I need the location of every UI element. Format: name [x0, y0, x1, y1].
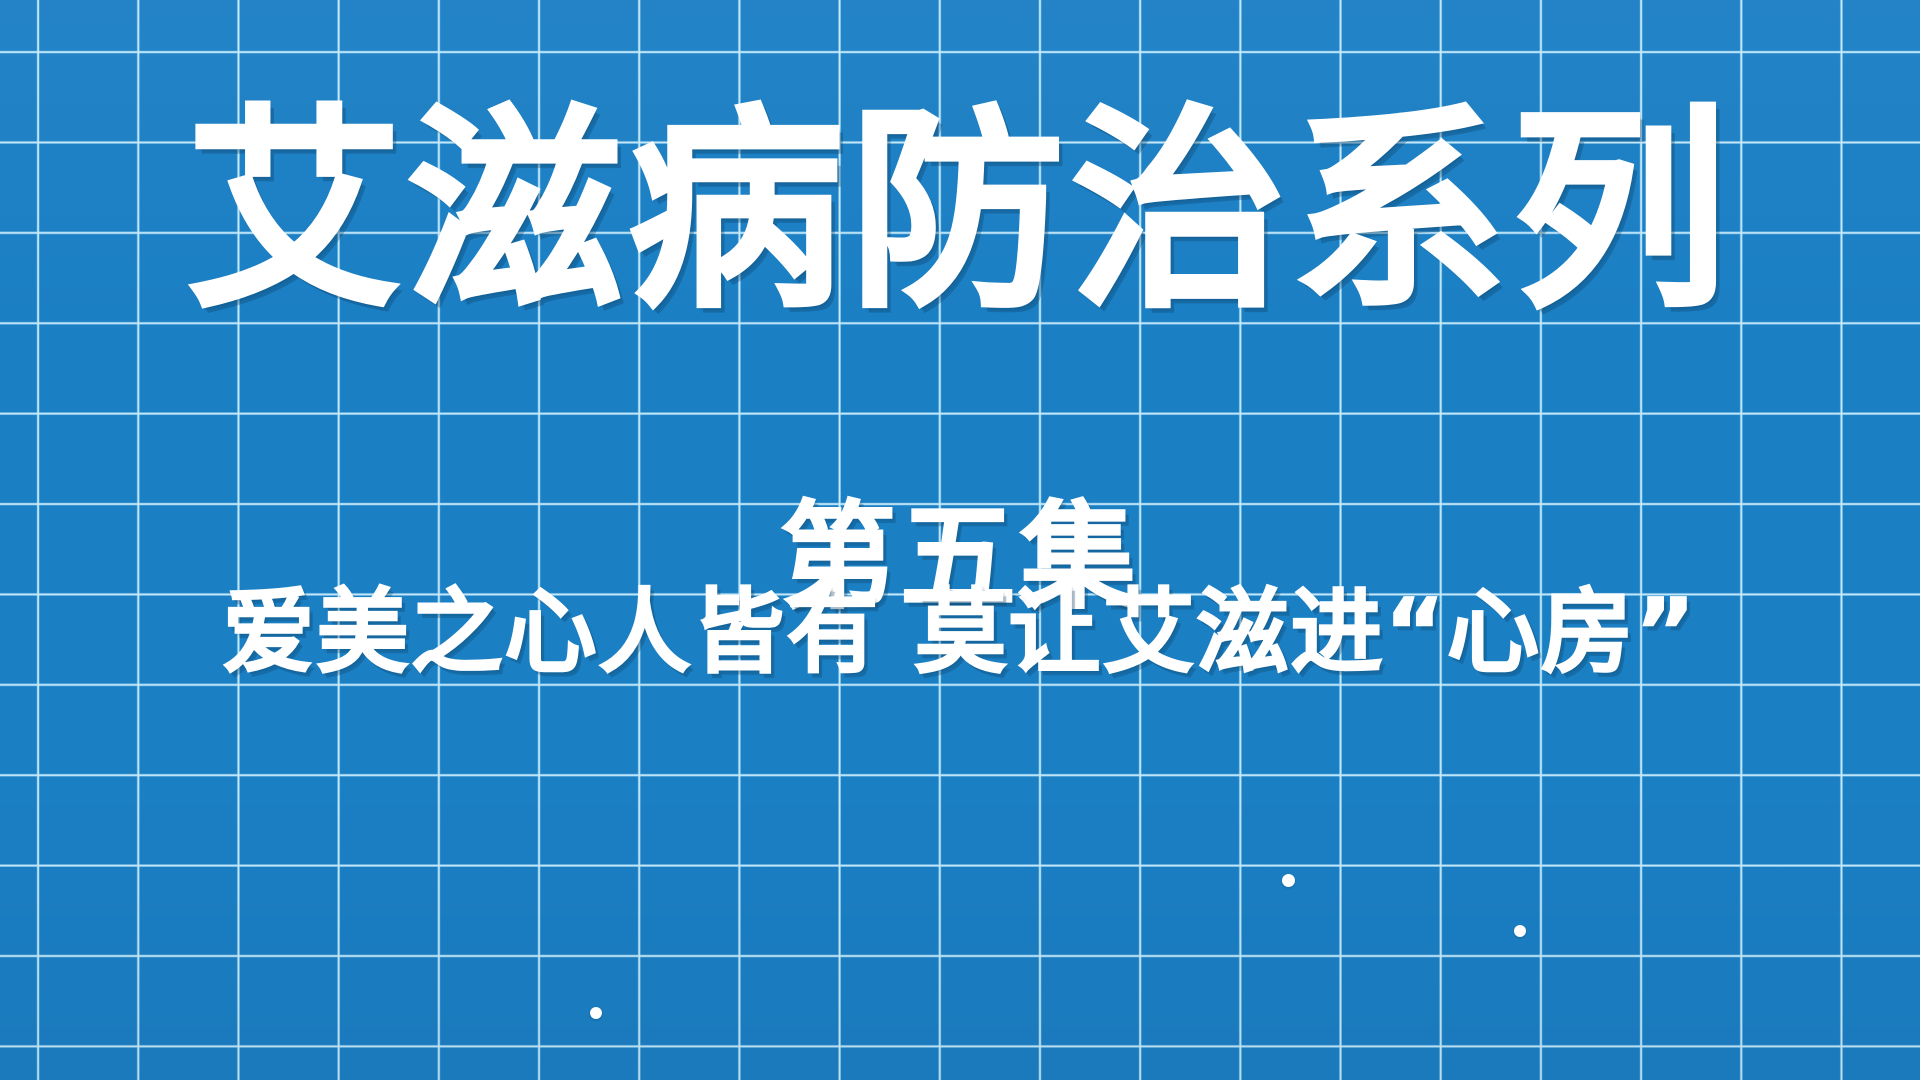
decorative-dot-right [1514, 925, 1526, 937]
decorative-dot-upper-right [1282, 874, 1295, 887]
subtitle-tagline: 爱美之心人皆有 莫让艾滋进“心房” [0, 587, 1920, 679]
main-title: 艾滋病防治系列 [0, 104, 1920, 319]
decorative-dot-lower-left [590, 1007, 602, 1019]
title-content-stack: 艾滋病防治系列 第五集 爱美之心人皆有 莫让艾滋进“心房” [0, 0, 1920, 1080]
title-card-slide: 艾滋病防治系列 第五集 爱美之心人皆有 莫让艾滋进“心房” [0, 0, 1920, 1080]
